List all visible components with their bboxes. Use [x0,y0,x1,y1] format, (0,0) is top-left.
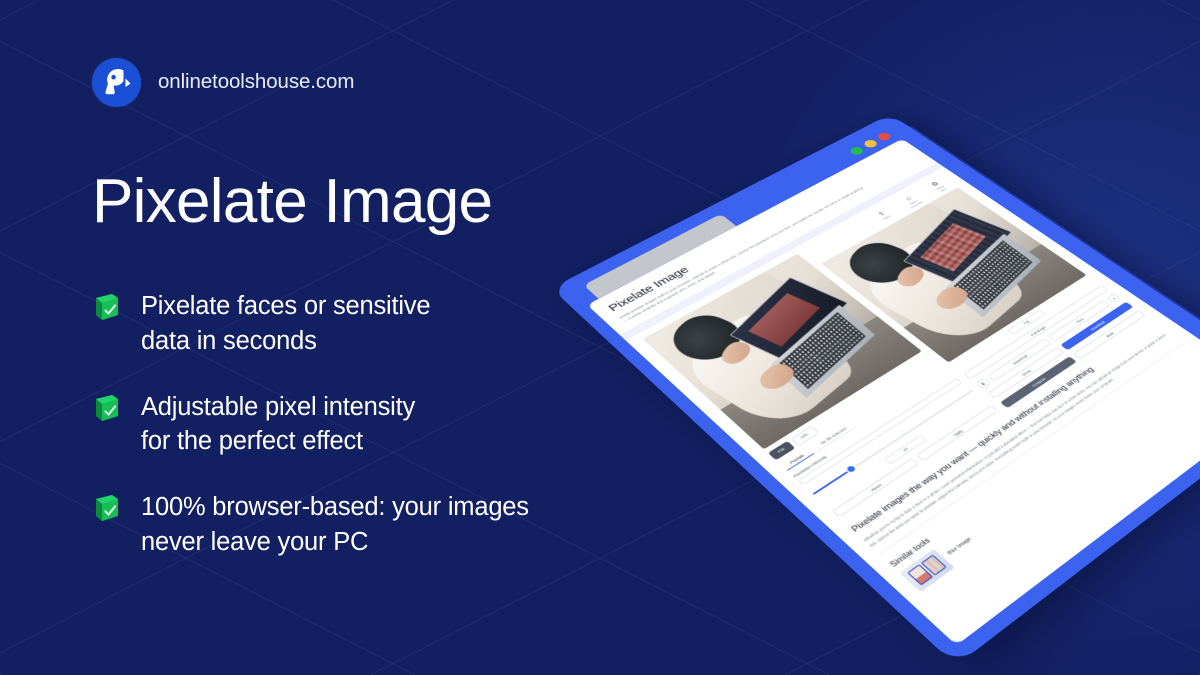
browser-mockup: Pixelate Image Easily pixelate images ri… [551,114,1200,666]
browser-mockup-scene: Pixelate Image Easily pixelate images ri… [612,0,1200,675]
feature-label: Adjustable pixel intensity for the perfe… [141,390,415,459]
brand-lockup: onlinetoolshouse.com [92,56,652,108]
tool-house-logo-icon [92,58,141,107]
browser-window-frame: Pixelate Image Easily pixelate images ri… [551,114,1200,666]
left-content-column: onlinetoolshouse.com Pixelate Image Pixe… [92,56,652,559]
feature-label: 100% browser-based: your images never le… [141,490,529,559]
page-title: Pixelate Image [92,170,652,233]
feature-label: Pixelate faces or sensitive data in seco… [141,289,430,358]
window-maximize-button[interactable] [862,139,879,149]
feature-item: Adjustable pixel intensity for the perfe… [92,390,652,459]
slider-knob[interactable] [846,465,857,473]
browser-viewport: Pixelate Image Easily pixelate images ri… [587,139,1200,646]
feature-item: 100% browser-based: your images never le… [92,490,652,559]
feature-list: Pixelate faces or sensitive data in seco… [92,289,652,559]
brand-name: onlinetoolshouse.com [158,70,354,94]
check-mark-icon [92,393,119,423]
check-mark-icon [92,493,119,523]
slide-canvas: onlinetoolshouse.com Pixelate Image Pixe… [0,0,1200,675]
check-mark-icon [92,292,119,322]
similar-tool-label: Blur Image [947,537,973,557]
window-minimize-button[interactable] [848,146,865,156]
window-close-button[interactable] [876,132,893,142]
